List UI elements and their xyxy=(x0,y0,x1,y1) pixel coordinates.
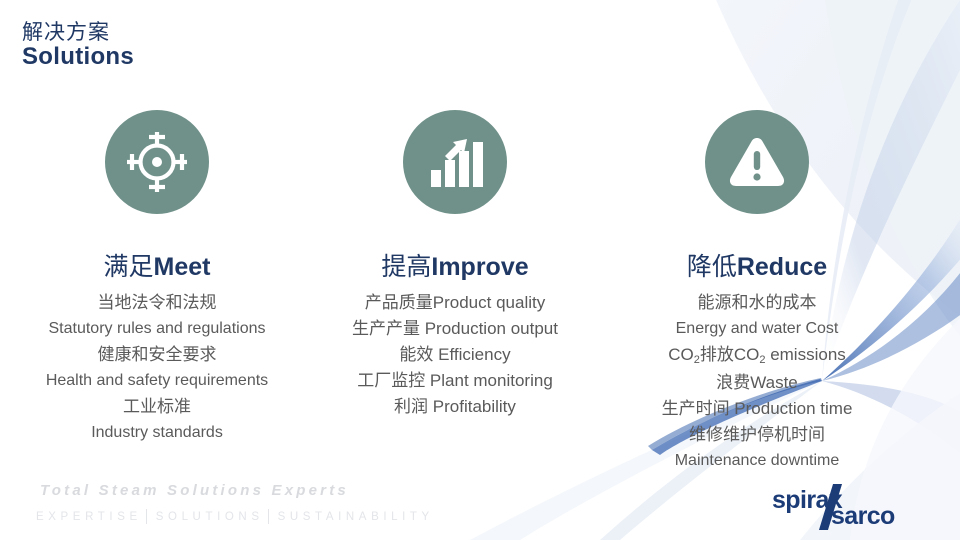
column-heading-chinese: 降低 xyxy=(687,253,737,281)
page-title-chinese: 解决方案 xyxy=(22,22,134,44)
co2-suffix: emissions xyxy=(765,345,845,364)
column-heading-english: Improve xyxy=(431,253,528,281)
column-heading-reduce: 降低Reduce xyxy=(687,254,827,282)
slide-canvas: 解决方案 Solutions xyxy=(0,0,960,540)
column-heading-chinese: 满足 xyxy=(104,253,154,281)
footer-pillar-solutions: SOLUTIONS xyxy=(156,511,264,523)
list-item: 浪费Waste xyxy=(662,370,853,396)
list-item: 维修维护停机时间 xyxy=(662,422,853,448)
bar-chart-growth-icon xyxy=(423,130,487,194)
list-item: Statutory rules and regulations xyxy=(46,316,268,342)
target-crosshair-icon-badge xyxy=(105,110,209,214)
column-lines-meet: 当地法令和法规 Statutory rules and regulations … xyxy=(46,290,268,446)
warning-triangle-icon xyxy=(725,130,789,194)
footer-tagline: Total Steam Solutions Experts xyxy=(40,482,349,499)
bar-chart-growth-icon-badge xyxy=(403,110,507,214)
footer-divider xyxy=(146,509,147,524)
list-item: Industry standards xyxy=(46,420,268,446)
target-crosshair-icon xyxy=(125,130,189,194)
list-item-co2: CO2排放CO2 emissions xyxy=(662,342,853,370)
co2-prefix: CO xyxy=(668,345,694,364)
solution-column-reduce: 降低Reduce 能源和水的成本 Energy and water Cost C… xyxy=(606,110,908,474)
solution-column-improve: 提高Improve 产品质量Product quality 生产产量 Produ… xyxy=(304,110,606,474)
list-item: 能效 Efficiency xyxy=(352,342,558,368)
column-lines-reduce: 能源和水的成本 Energy and water Cost CO2排放CO2 e… xyxy=(662,290,853,474)
footer-pillar-sustainability: SUSTAINABILITY xyxy=(278,511,434,523)
list-item: 产品质量Product quality xyxy=(352,290,558,316)
co2-subscript-2: 2 xyxy=(759,354,765,366)
footer-pillars: EXPERTISE SOLUTIONS SUSTAINABILITY xyxy=(36,509,434,524)
footer-pillar-expertise: EXPERTISE xyxy=(36,511,142,523)
list-item: 利润 Profitability xyxy=(352,394,558,420)
logo-word-sarco: sarco xyxy=(831,502,895,531)
page-title: 解决方案 Solutions xyxy=(22,22,134,70)
list-item: 生产产量 Production output xyxy=(352,316,558,342)
list-item: 当地法令和法规 xyxy=(46,290,268,316)
spirax-sarco-logo: spirax sarco xyxy=(772,486,942,532)
list-item: 能源和水的成本 xyxy=(662,290,853,316)
column-heading-chinese: 提高 xyxy=(381,253,431,281)
list-item: 工厂监控 Plant monitoring xyxy=(352,368,558,394)
list-item: Energy and water Cost xyxy=(662,316,853,342)
co2-middle: 排放CO xyxy=(700,345,760,364)
list-item: 工业标准 xyxy=(46,394,268,420)
list-item: Maintenance downtime xyxy=(662,448,853,474)
solution-column-meet: 满足Meet 当地法令和法规 Statutory rules and regul… xyxy=(6,110,308,474)
column-heading-english: Reduce xyxy=(737,253,827,281)
column-heading-meet: 满足Meet xyxy=(104,254,211,282)
list-item: 生产时间 Production time xyxy=(662,396,853,422)
column-lines-improve: 产品质量Product quality 生产产量 Production outp… xyxy=(352,290,558,420)
co2-subscript-1: 2 xyxy=(694,354,700,366)
list-item: 健康和安全要求 xyxy=(46,342,268,368)
list-item: Health and safety requirements xyxy=(46,368,268,394)
footer-divider xyxy=(268,509,269,524)
column-heading-improve: 提高Improve xyxy=(381,254,528,282)
column-heading-english: Meet xyxy=(154,253,211,281)
page-title-english: Solutions xyxy=(22,44,134,69)
solutions-columns: 满足Meet 当地法令和法规 Statutory rules and regul… xyxy=(0,110,960,474)
warning-triangle-icon-badge xyxy=(705,110,809,214)
